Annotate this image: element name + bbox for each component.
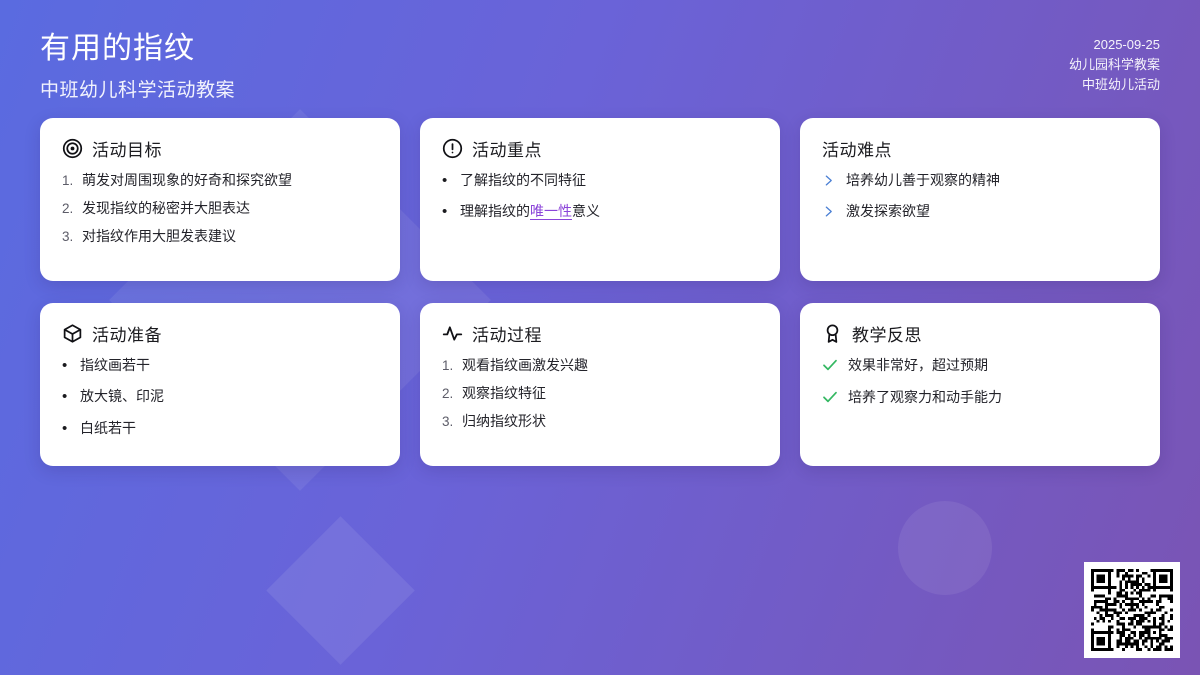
card-activity-preparation[interactable]: 活动准备 指纹画若干 放大镜、印泥 白纸若干 [40, 303, 400, 466]
card-title: 活动准备 [92, 321, 162, 346]
cards-grid: 活动目标 萌发对周围现象的好奇和探究欲望 发现指纹的秘密并大胆表达 对指纹作用大… [40, 118, 1160, 466]
card-body: 培养幼儿善于观察的精神 激发探索欲望 [822, 171, 1138, 221]
list-item: 发现指纹的秘密并大胆表达 [62, 199, 378, 218]
activity-pulse-icon [442, 323, 463, 344]
list-item-text: 效果非常好，超过预期 [848, 356, 988, 375]
card-activity-goal[interactable]: 活动目标 萌发对周围现象的好奇和探究欲望 发现指纹的秘密并大胆表达 对指纹作用大… [40, 118, 400, 281]
bullet-list: 了解指纹的不同特征 理解指纹的唯一性意义 [442, 171, 758, 223]
header-meta: 2025-09-25 幼儿园科学教案 中班幼儿活动 [1069, 30, 1160, 95]
award-icon [822, 323, 843, 344]
list-item-text: 萌发对周围现象的好奇和探究欲望 [82, 171, 292, 190]
list-item-text-suffix: 意义 [572, 203, 600, 219]
list-item-text: 归纳指纹形状 [462, 412, 546, 431]
list-item: 指纹画若干 [62, 356, 378, 376]
check-icon [822, 389, 848, 405]
list-item: 对指纹作用大胆发表建议 [62, 227, 378, 246]
card-teaching-reflection[interactable]: 教学反思 效果非常好，超过预期 培养了观察力和动手能力 [800, 303, 1160, 466]
card-body: 了解指纹的不同特征 理解指纹的唯一性意义 [442, 171, 758, 223]
header-date: 2025-09-25 [1069, 35, 1160, 55]
list-item-text: 指纹画若干 [80, 356, 150, 375]
card-header: 活动重点 [442, 136, 758, 161]
list-item: 放大镜、印泥 [62, 387, 378, 407]
qr-code[interactable] [1084, 562, 1180, 658]
header-title-group: 有用的指纹 中班幼儿科学活动教案 [40, 30, 235, 102]
list-item: 归纳指纹形状 [442, 412, 758, 431]
qr-code-image [1091, 569, 1173, 651]
card-header: 教学反思 [822, 321, 1138, 346]
card-activity-difficulty[interactable]: 活动难点 培养幼儿善于观察的精神 激发探索欲望 [800, 118, 1160, 281]
card-body: 效果非常好，超过预期 培养了观察力和动手能力 [822, 356, 1138, 407]
list-item: 萌发对周围现象的好奇和探究欲望 [62, 171, 378, 190]
card-header: 活动过程 [442, 321, 758, 346]
page-subtitle: 中班幼儿科学活动教案 [40, 75, 235, 102]
card-title: 活动过程 [472, 321, 542, 346]
list-item: 激发探索欲望 [822, 202, 1138, 221]
list-item-text: 培养了观察力和动手能力 [848, 388, 1002, 407]
list-item: 理解指纹的唯一性意义 [442, 202, 758, 222]
chevron-right-icon [822, 205, 846, 218]
list-item-text: 观看指纹画激发兴趣 [462, 356, 588, 375]
card-body: 萌发对周围现象的好奇和探究欲望 发现指纹的秘密并大胆表达 对指纹作用大胆发表建议 [62, 171, 378, 247]
list-item-text: 理解指纹的唯一性意义 [460, 202, 600, 221]
check-icon [822, 357, 848, 373]
page-title: 有用的指纹 [40, 30, 235, 68]
card-title: 活动目标 [92, 136, 162, 161]
list-item-text: 激发探索欲望 [846, 202, 930, 221]
list-item-text: 发现指纹的秘密并大胆表达 [82, 199, 250, 218]
list-item: 观看指纹画激发兴趣 [442, 356, 758, 375]
chevron-list: 培养幼儿善于观察的精神 激发探索欲望 [822, 171, 1138, 221]
card-header: 活动准备 [62, 321, 378, 346]
list-item: 了解指纹的不同特征 [442, 171, 758, 191]
list-item: 观察指纹特征 [442, 384, 758, 403]
check-list: 效果非常好，超过预期 培养了观察力和动手能力 [822, 356, 1138, 407]
card-body: 指纹画若干 放大镜、印泥 白纸若干 [62, 356, 378, 439]
highlighted-term: 唯一性 [530, 203, 572, 220]
decorative-circle [898, 501, 992, 595]
alert-circle-icon [442, 138, 463, 159]
list-item-text: 对指纹作用大胆发表建议 [82, 227, 236, 246]
card-title: 教学反思 [852, 321, 922, 346]
card-body: 观看指纹画激发兴趣 观察指纹特征 归纳指纹形状 [442, 356, 758, 432]
bullet-list: 指纹画若干 放大镜、印泥 白纸若干 [62, 356, 378, 439]
decorative-diamond-small [266, 516, 414, 664]
list-item: 白纸若干 [62, 419, 378, 439]
box-icon [62, 323, 83, 344]
list-item: 培养幼儿善于观察的精神 [822, 171, 1138, 190]
header-meta-line-2: 中班幼儿活动 [1069, 75, 1160, 95]
card-title: 活动难点 [822, 136, 892, 161]
list-item-text: 放大镜、印泥 [80, 387, 164, 406]
slide-root: 有用的指纹 中班幼儿科学活动教案 2025-09-25 幼儿园科学教案 中班幼儿… [0, 0, 1200, 675]
card-header: 活动难点 [822, 136, 1138, 161]
list-item: 培养了观察力和动手能力 [822, 388, 1138, 407]
list-item-text: 了解指纹的不同特征 [460, 171, 586, 190]
card-title: 活动重点 [472, 136, 542, 161]
ordered-list: 萌发对周围现象的好奇和探究欲望 发现指纹的秘密并大胆表达 对指纹作用大胆发表建议 [62, 171, 378, 247]
chevron-right-icon [822, 174, 846, 187]
slide-header: 有用的指纹 中班幼儿科学活动教案 2025-09-25 幼儿园科学教案 中班幼儿… [0, 0, 1200, 118]
card-activity-process[interactable]: 活动过程 观看指纹画激发兴趣 观察指纹特征 归纳指纹形状 [420, 303, 780, 466]
list-item-text: 观察指纹特征 [462, 384, 546, 403]
list-item-text: 培养幼儿善于观察的精神 [846, 171, 1000, 190]
list-item-text-prefix: 理解指纹的 [460, 203, 530, 219]
card-activity-focus[interactable]: 活动重点 了解指纹的不同特征 理解指纹的唯一性意义 [420, 118, 780, 281]
card-header: 活动目标 [62, 136, 378, 161]
header-meta-line-1: 幼儿园科学教案 [1069, 55, 1160, 75]
list-item: 效果非常好，超过预期 [822, 356, 1138, 375]
target-icon [62, 138, 83, 159]
list-item-text: 白纸若干 [80, 419, 136, 438]
ordered-list: 观看指纹画激发兴趣 观察指纹特征 归纳指纹形状 [442, 356, 758, 432]
